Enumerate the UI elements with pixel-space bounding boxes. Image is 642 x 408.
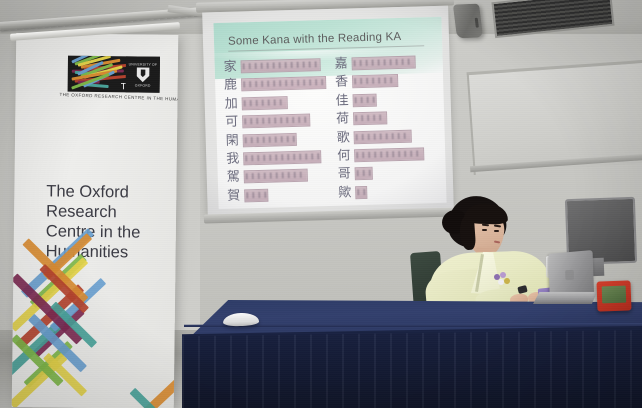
banner-tagline: THE OXFORD RESEARCH CENTRE IN THE HUMANI… xyxy=(59,92,177,102)
kana-row: 荷 xyxy=(335,108,438,128)
kana-row: 何 xyxy=(336,145,439,165)
kanji-glyph: 可 xyxy=(224,116,239,129)
kana-row: 加 xyxy=(224,93,327,113)
crest-shield-icon xyxy=(136,67,149,82)
kana-variants-box xyxy=(355,167,373,180)
kana-variants-box xyxy=(353,93,377,107)
kana-row: 我 xyxy=(225,148,328,168)
kana-variants-box xyxy=(354,129,412,144)
kana-row: 賀 xyxy=(226,185,329,205)
kana-row: 閑 xyxy=(225,130,328,150)
kanji-glyph: 佳 xyxy=(335,94,350,107)
kanji-glyph: 我 xyxy=(225,152,240,165)
kanji-glyph: 何 xyxy=(336,149,351,162)
laptop-lid xyxy=(548,250,594,296)
kana-row: 鹿 xyxy=(223,74,326,94)
kana-column-left: 家鹿加可閑我駕賀 xyxy=(222,56,329,205)
kana-variants-box xyxy=(353,112,387,126)
kana-variants-box xyxy=(242,114,310,129)
laptop-keyboard-base xyxy=(533,292,597,304)
kanji-glyph: 閑 xyxy=(225,134,240,147)
kana-variants-box xyxy=(352,75,398,89)
kana-row: 佳 xyxy=(334,90,437,110)
laptop xyxy=(537,252,599,306)
kana-column-right: 嘉香佳荷歌何哥歟 xyxy=(333,53,440,202)
banner-ribbon-pattern xyxy=(12,248,179,408)
kana-variants-box xyxy=(243,132,297,147)
presentation-slide: Some Kana with the Reading KA 家鹿加可閑我駕賀 嘉… xyxy=(213,17,446,209)
kana-variants-box xyxy=(241,58,321,73)
kana-variants-box xyxy=(351,56,415,71)
kana-variants-box xyxy=(354,147,424,162)
kana-row: 香 xyxy=(334,71,437,91)
kanji-glyph: 歟 xyxy=(337,186,352,199)
kanji-glyph: 鹿 xyxy=(223,79,238,92)
kanji-glyph: 歌 xyxy=(336,131,351,144)
kanji-glyph: 駕 xyxy=(226,171,241,184)
kanji-glyph: 哥 xyxy=(337,168,352,181)
kanji-glyph: 賀 xyxy=(226,189,241,202)
kana-variants-box xyxy=(243,150,321,165)
wall-speaker xyxy=(453,4,483,39)
kana-variants-box xyxy=(244,169,308,184)
torch-banner: TORCH UNIVERSITY OF OXFORD THE OXFORD RE… xyxy=(12,33,179,408)
kana-variants-box xyxy=(241,77,327,92)
projection-screen: Some Kana with the Reading KA 家鹿加可閑我駕賀 嘉… xyxy=(196,0,460,225)
kanji-glyph: 加 xyxy=(224,97,239,110)
oxford-crest: UNIVERSITY OF OXFORD xyxy=(126,56,160,92)
screen-surface: Some Kana with the Reading KA 家鹿加可閑我駕賀 嘉… xyxy=(202,6,454,216)
kana-row: 家 xyxy=(222,56,325,76)
kanji-glyph: 香 xyxy=(334,76,349,89)
kana-row: 可 xyxy=(224,111,327,131)
hair-fringe xyxy=(464,203,509,225)
kana-variants-box xyxy=(355,186,367,199)
red-handheld-device xyxy=(596,280,631,311)
kana-row: 哥 xyxy=(337,163,440,183)
kana-row: 嘉 xyxy=(333,53,436,73)
table-skirt-folds xyxy=(182,330,642,408)
kanji-glyph: 嘉 xyxy=(333,58,348,71)
kana-variants-box xyxy=(242,96,288,110)
kana-row: 駕 xyxy=(226,166,329,186)
floral-brooch xyxy=(494,272,510,288)
kana-row: 歌 xyxy=(335,126,438,146)
kanji-glyph: 荷 xyxy=(335,113,350,126)
crest-oxford-label: OXFORD xyxy=(135,83,151,87)
kanji-glyph: 家 xyxy=(223,61,238,74)
kana-variants-box xyxy=(244,188,268,202)
kana-columns: 家鹿加可閑我駕賀 嘉香佳荷歌何哥歟 xyxy=(222,53,440,205)
lecture-room-photo: Some Kana with the Reading KA 家鹿加可閑我駕賀 嘉… xyxy=(0,0,642,408)
crest-university-label: UNIVERSITY OF xyxy=(129,62,158,66)
